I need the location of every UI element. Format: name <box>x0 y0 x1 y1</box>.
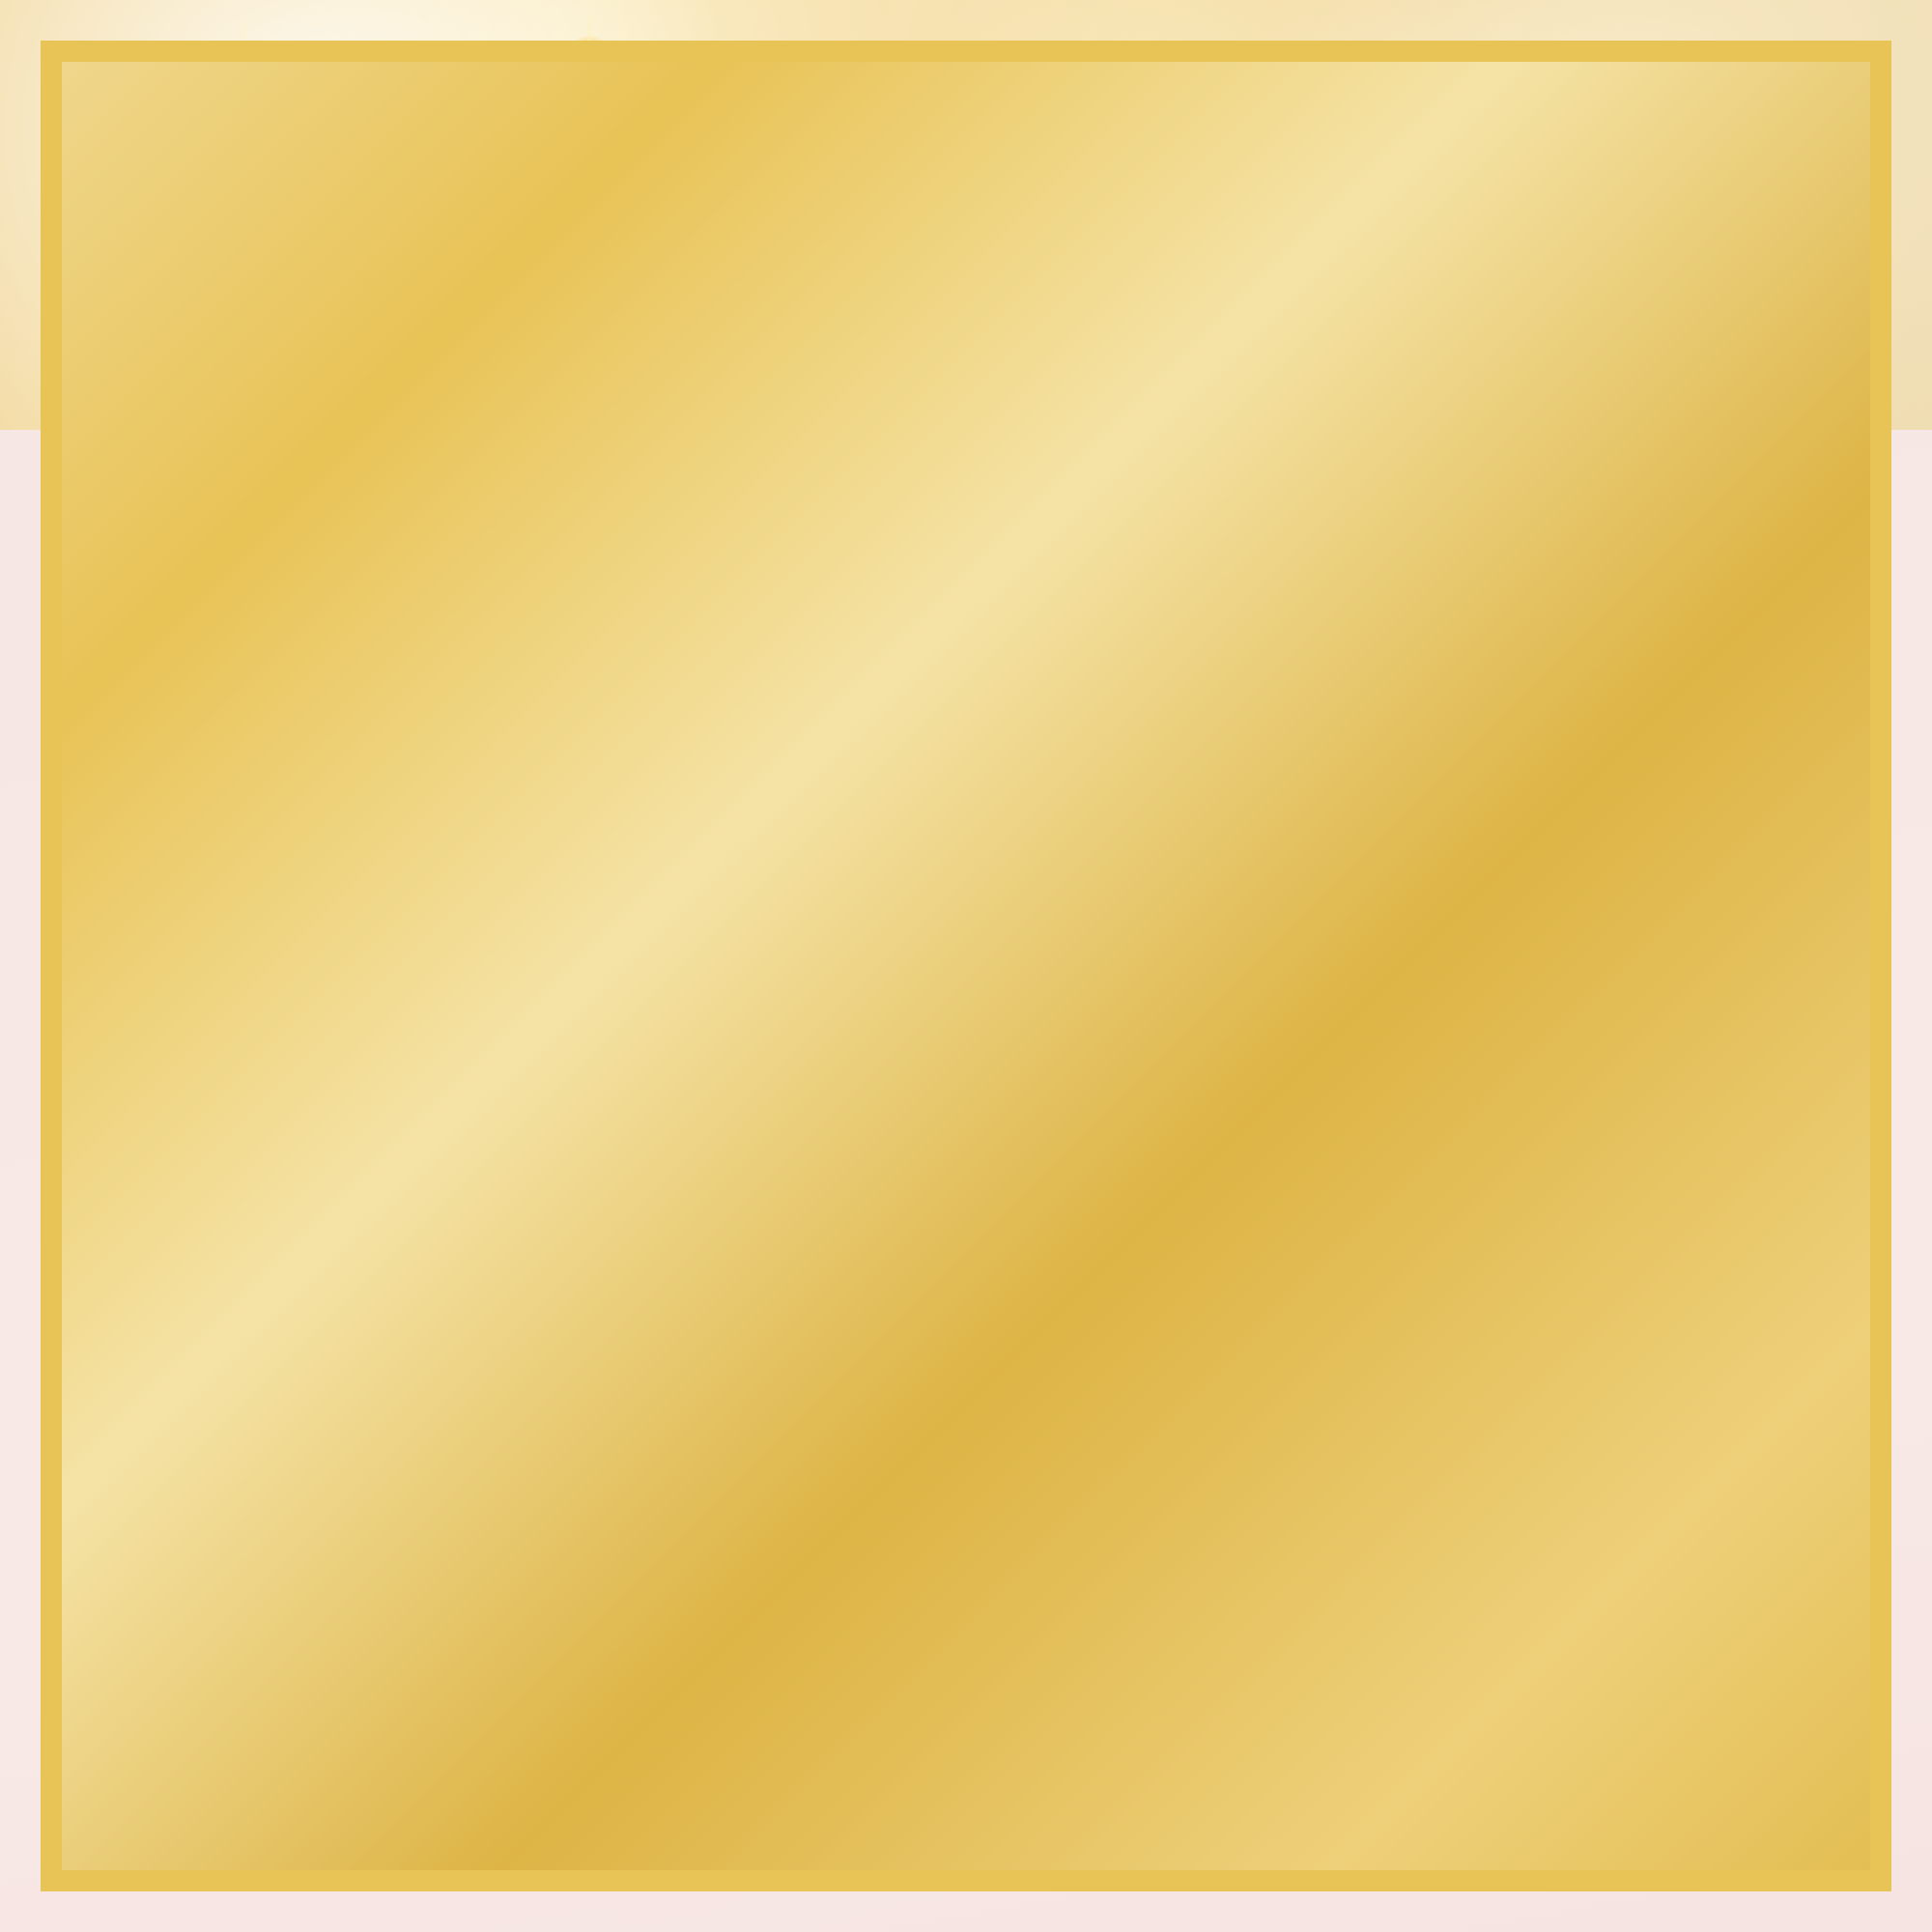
stat-text: Agree skin appeared younger <box>639 1172 1425 1238</box>
promo-poster: AFTER 4 WEEKS... GOLDIE LUX 24K Colloida… <box>0 0 1932 1932</box>
stat-text-line2: and more radiant after using the serum <box>126 1240 1806 1310</box>
product-shot: GOLDIE LUX 24K Colloidal GOLD fOR Colloi… <box>1470 85 1760 413</box>
bottle-type-fr: SÉRUM POUR VISAGE <box>1559 353 1627 366</box>
brand-circle-icon <box>1578 234 1607 263</box>
stat-text-line2: or blurring effect on imperfections <box>126 777 1806 846</box>
bottle-variant: ONE <box>1559 321 1627 330</box>
divider-1 <box>126 635 1806 638</box>
stat-percent: 80% <box>485 506 605 573</box>
gold-collar <box>1561 158 1625 209</box>
brand-circle-icon <box>1515 133 1547 165</box>
bottle-ingredient-fr: fOR Colloidal 24 carats <box>1559 302 1627 316</box>
study-disclaimer: Based on a 4 week clinical study of 100 … <box>126 1435 1806 1470</box>
divider-3 <box>126 1098 1806 1101</box>
product-bottle: GOLDIE LUX 24K Colloidal GOLD fOR Colloi… <box>1559 129 1629 406</box>
divider-2 <box>126 902 1806 905</box>
stat-percent: 70% <box>374 974 494 1040</box>
gold-cap <box>1681 299 1764 363</box>
stats-content: 80% Agree skin feels more hydrated 68% A… <box>0 430 1932 1932</box>
pump-head-icon <box>1564 129 1605 162</box>
stat-percent: 68% <box>458 708 578 775</box>
bottle-body: GOLDIE LUX 24K Colloidal GOLD fOR Colloi… <box>1559 205 1627 406</box>
divider-4 <box>126 1369 1806 1372</box>
stat-text: Agree the serum has a soft-focus <box>591 708 1473 775</box>
stat-row-3: 70% Agree skin feels firmer and more ela… <box>126 905 1806 1042</box>
stat-text: Agree skin feels firmer and more elastic <box>507 974 1559 1040</box>
stat-row-4: 59% Agree skin appeared younger and more… <box>126 1101 1806 1310</box>
header-banner: AFTER 4 WEEKS... GOLDIE LUX 24K Colloida… <box>0 0 1932 430</box>
bottle-type-en: FACE SERUM <box>1559 342 1627 349</box>
stat-row-1: 80% Agree skin feels more hydrated <box>126 430 1806 575</box>
bottle-ingredient-en: 24K Colloidal GOLD <box>1559 293 1627 299</box>
stat-text: Agree skin feels more hydrated <box>618 506 1447 573</box>
stat-row-2: 68% Agree the serum has a soft-focus or … <box>126 638 1806 846</box>
stat-percent: 59% <box>506 1172 626 1238</box>
bottle-natural-fr: D'ORIGINE NATURELLE <box>1582 378 1627 389</box>
